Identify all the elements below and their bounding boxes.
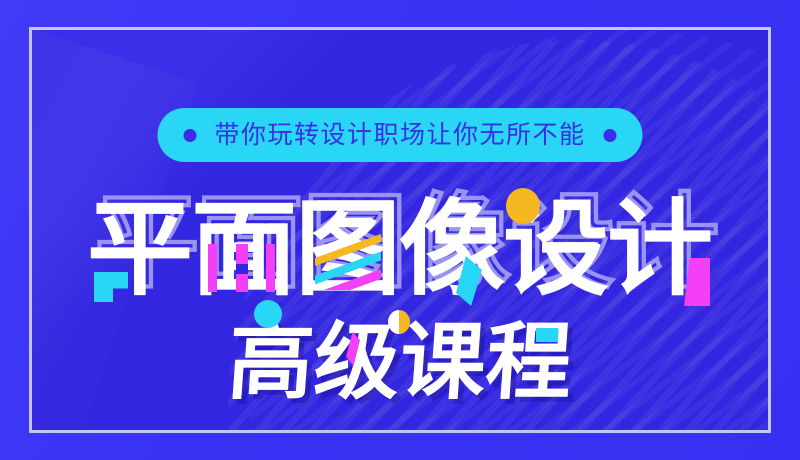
headline-char-5: 设 设 [504, 190, 608, 308]
headline-char-1: 平 平 [88, 190, 192, 308]
headline-char-3: 图 图 [296, 190, 400, 308]
headline-char-6: 计 计 [608, 190, 712, 308]
promo-banner: 带你玩转设计职场让你无所不能 平 平 面 面 图 图 像 [0, 0, 800, 460]
subheadline-char-1: 高 高 [228, 316, 314, 408]
headline-char-3-fill: 图 [295, 190, 401, 308]
inner-panel-with-border: 带你玩转设计职场让你无所不能 平 平 面 面 图 图 像 [29, 27, 771, 433]
subheadline-char-1-fill: 高 [224, 316, 318, 408]
bullet-dot-right-icon [604, 129, 617, 142]
subheadline-char-4: 程 程 [486, 316, 572, 408]
headline-char-1-fill: 平 [87, 190, 193, 308]
subheadline-char-2-fill: 级 [310, 316, 404, 408]
headline-char-6-fill: 计 [607, 190, 713, 308]
headline-char-4-fill: 像 [399, 190, 505, 308]
subheadline-char-4-fill: 程 [482, 316, 576, 408]
subtitle-pill: 带你玩转设计职场让你无所不能 [157, 108, 642, 162]
headline: 平 平 面 面 图 图 像 像 设 设 [32, 190, 768, 308]
headline-char-2: 面 面 [192, 190, 296, 308]
subtitle-text: 带你玩转设计职场让你无所不能 [214, 123, 585, 148]
bullet-dot-left-icon [183, 129, 196, 142]
headline-char-2-fill: 面 [191, 190, 297, 308]
subheadline-char-3-fill: 课 [396, 316, 490, 408]
headline-char-5-fill: 设 [503, 190, 609, 308]
subheadline-char-2: 级 级 [314, 316, 400, 408]
headline-char-4: 像 像 [400, 190, 504, 308]
subheadline-char-3: 课 课 [400, 316, 486, 408]
subheadline: 高 高 级 级 课 课 程 程 [32, 316, 768, 408]
